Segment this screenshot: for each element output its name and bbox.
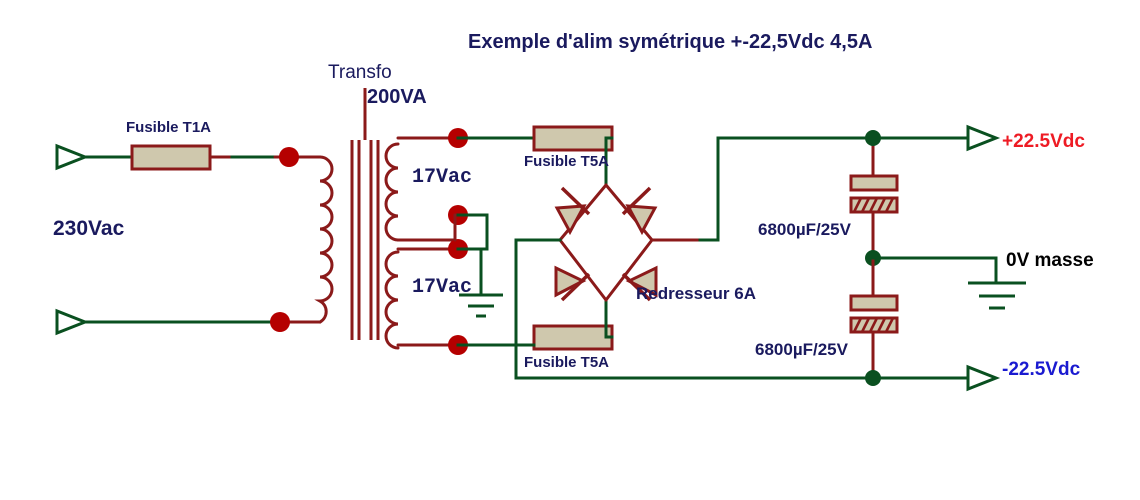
cap-top-plate-c1[interactable] (851, 176, 897, 190)
transformer-core (352, 88, 378, 340)
diode-top-right (623, 188, 655, 232)
circuit-schematic: Exemple d'alim symétrique +-22,5Vdc 4,5A… (0, 0, 1140, 500)
transformer-primary-winding[interactable] (320, 157, 332, 322)
fuse-t5a-top-label: Fusible T5A (524, 153, 609, 170)
output-negative-terminal[interactable] (968, 367, 996, 389)
output-positive-label: +22.5Vdc (1002, 131, 1085, 152)
junction-dot-ac-neutral (270, 312, 290, 332)
cap-bottom-plate-c2[interactable] (851, 318, 897, 332)
output-ground-label: 0V masse (1006, 250, 1094, 271)
fuse-t5a-top-body[interactable] (534, 127, 612, 150)
diode-top-left (557, 188, 589, 232)
ac-neutral-in-terminal-icon[interactable] (57, 311, 85, 333)
fuse-t5a-bottom-body[interactable] (534, 326, 612, 349)
bridge-rectifier[interactable] (516, 185, 700, 300)
out-negative-arrow-icon[interactable] (968, 367, 996, 389)
cap-top-plate-c2[interactable] (851, 296, 897, 310)
wire-mid-to-ground (873, 258, 996, 283)
fuse-t5a-bottom-label: Fusible T5A (524, 354, 609, 371)
cap-bottom-plate-c1[interactable] (851, 198, 897, 212)
output-negative-label: -22.5Vdc (1002, 359, 1081, 380)
center-tap-ground-branch (458, 215, 503, 316)
ac-input-bottom-branch (57, 311, 320, 333)
transformer-rating-label: 200VA (367, 86, 427, 108)
junction-dot-ac-line (279, 147, 299, 167)
secondary-top-label: 17Vac (412, 166, 472, 189)
transformer-secondary-top-winding[interactable] (386, 138, 455, 240)
ac-input-top-branch (57, 146, 320, 169)
rectifier-label: Redresseur 6A (636, 284, 756, 303)
transformer-name-label: Transfo (328, 62, 392, 83)
junction-dot-positive (865, 130, 881, 146)
junction-dot-negative (865, 370, 881, 386)
out-positive-arrow-icon[interactable] (968, 127, 996, 149)
fuse-t1a-body[interactable] (132, 146, 210, 169)
diagram-title: Exemple d'alim symétrique +-22,5Vdc 4,5A (468, 31, 872, 53)
input-voltage-label: 230Vac (53, 217, 125, 240)
ac-line-in-terminal-icon[interactable] (57, 146, 85, 168)
fuse-t1a-label: Fusible T1A (126, 119, 211, 136)
output-positive-terminal[interactable] (968, 127, 996, 149)
cap-c1-label: 6800µF/25V (758, 220, 852, 239)
cap-c2-label: 6800µF/25V (755, 340, 849, 359)
schematic-canvas: Exemple d'alim symétrique +-22,5Vdc 4,5A… (0, 0, 1140, 500)
